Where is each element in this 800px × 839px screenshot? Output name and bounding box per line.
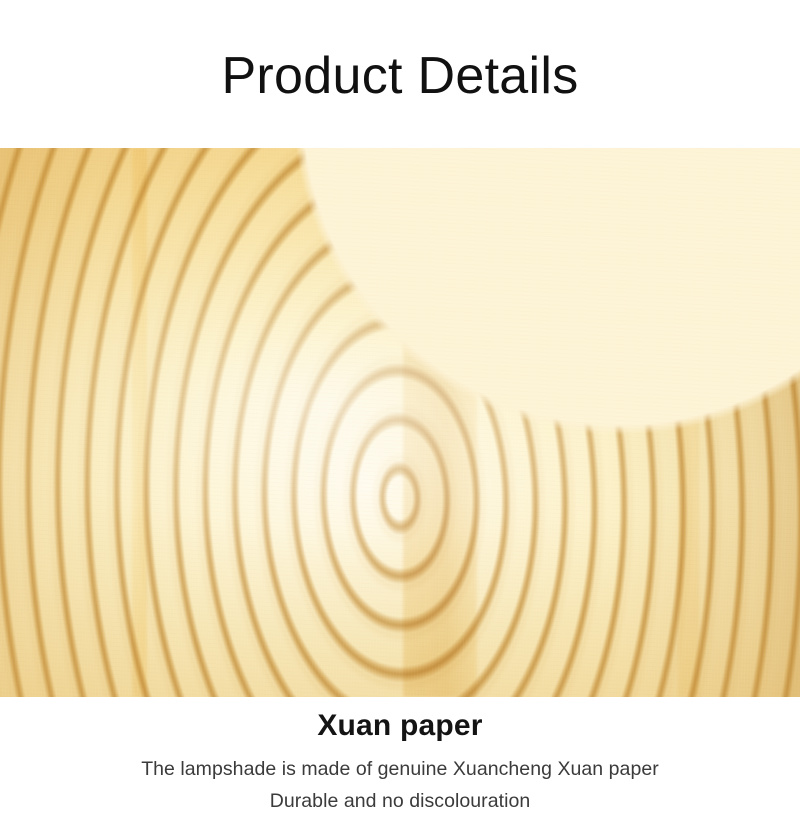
product-photo-lantern <box>0 148 800 697</box>
page-title: Product Details <box>221 50 578 102</box>
caption-line-2: Durable and no discolouration <box>0 786 800 818</box>
product-details-page: Product Details Xuan paper The lampshade… <box>0 0 800 839</box>
caption-heading: Xuan paper <box>0 708 800 743</box>
caption-lines: The lampshade is made of genuine Xuanche… <box>0 754 800 817</box>
caption-line-1: The lampshade is made of genuine Xuanche… <box>0 754 800 786</box>
caption-block: Xuan paper The lampshade is made of genu… <box>0 697 800 818</box>
title-block: Product Details <box>0 0 800 148</box>
